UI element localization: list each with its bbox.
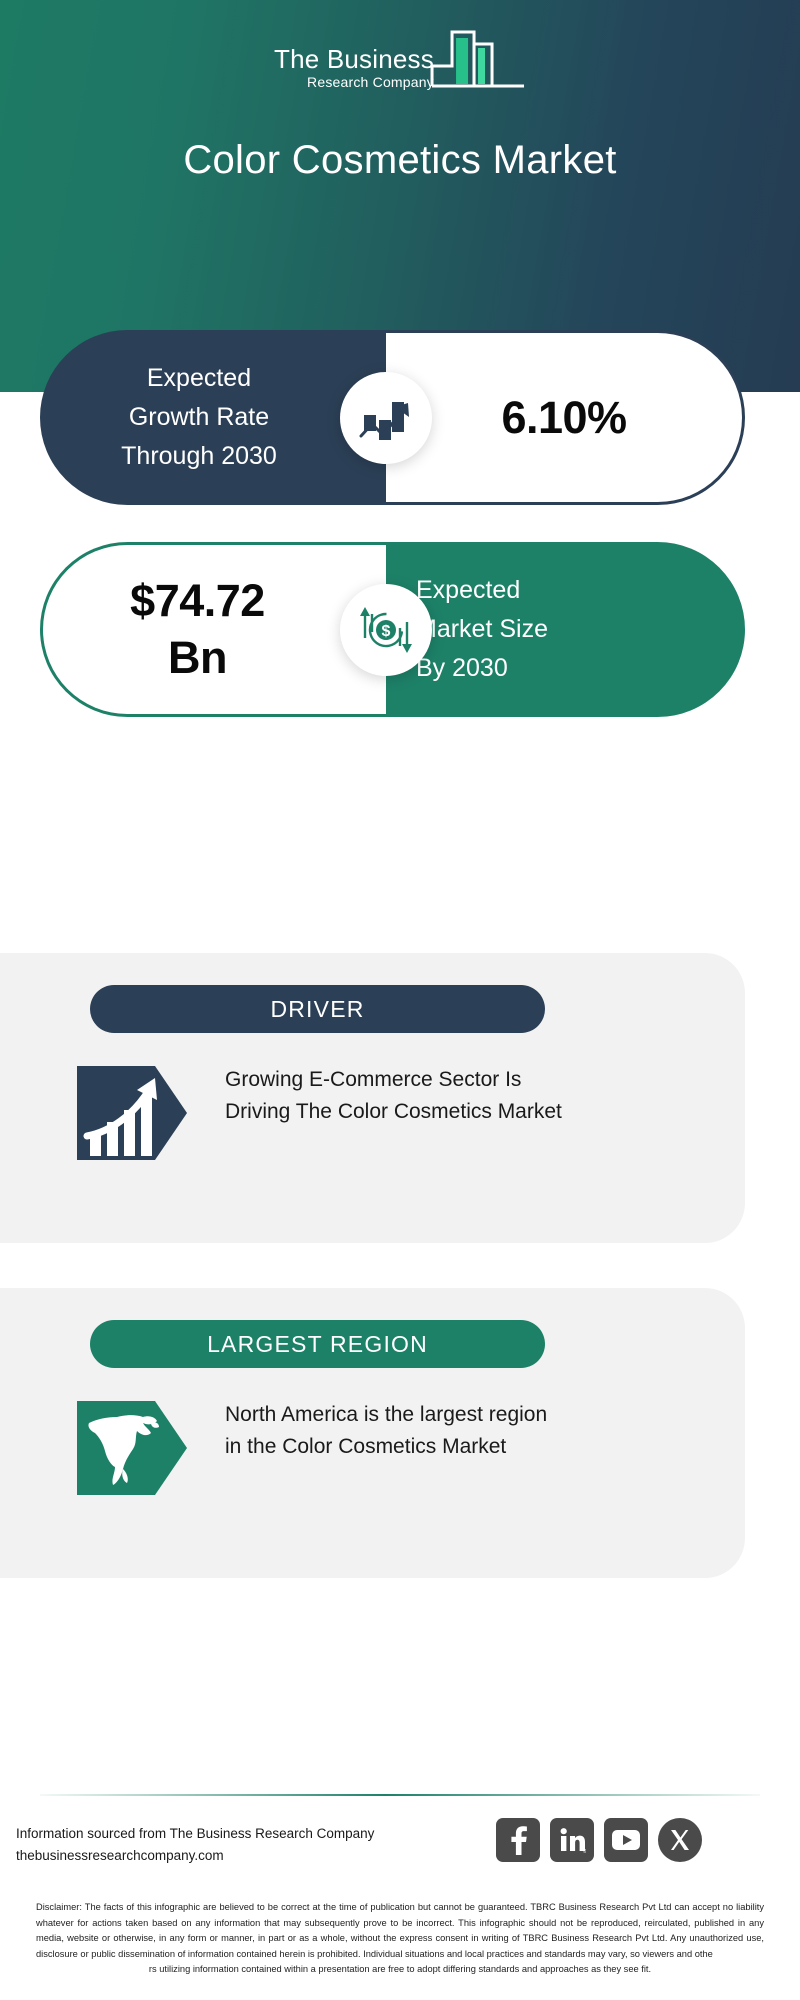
x-twitter-icon[interactable]: [658, 1818, 702, 1862]
north-america-map-pentagon-icon: [77, 1393, 187, 1503]
disclaimer-tail: rs utilizing information contained withi…: [36, 1962, 764, 1978]
youtube-icon[interactable]: [604, 1818, 648, 1862]
footer-source: Information sourced from The Business Re…: [16, 1823, 374, 1868]
svg-text:$: $: [382, 623, 391, 640]
largest-region-section: LARGEST REGION North America is the larg…: [0, 1288, 745, 1578]
largest-region-body: North America is the largest region in t…: [77, 1393, 565, 1503]
largest-region-text: North America is the largest region in t…: [225, 1393, 565, 1463]
dollar-cycle-icon: $: [340, 584, 432, 676]
logo-line-1: The Business: [274, 46, 434, 73]
footer-divider: [40, 1794, 760, 1796]
disclaimer-text: Disclaimer: The facts of this infographi…: [36, 1900, 764, 1978]
bar-chart-logo-icon: [430, 22, 526, 97]
growth-rate-value: 6.10%: [501, 392, 626, 444]
svg-text:®: ®: [583, 1848, 586, 1854]
driver-body: Growing E-Commerce Sector Is Driving The…: [77, 1058, 565, 1168]
growth-rate-label-panel: Expected Growth Rate Through 2030: [40, 330, 386, 505]
footer-source-line-1: Information sourced from The Business Re…: [16, 1823, 374, 1845]
largest-region-pill: LARGEST REGION: [90, 1320, 545, 1368]
bar-growth-pentagon-icon: [77, 1058, 187, 1168]
driver-pill: DRIVER: [90, 985, 545, 1033]
footer-website-link[interactable]: thebusinessresearchcompany.com: [16, 1845, 374, 1867]
social-links: ®: [496, 1818, 702, 1862]
driver-text: Growing E-Commerce Sector Is Driving The…: [225, 1058, 565, 1128]
market-size-label-panel: Expected Market Size By 2030: [386, 542, 745, 717]
page-title: Color Cosmetics Market: [0, 138, 800, 183]
growth-chart-arrow-icon: [340, 372, 432, 464]
logo-wordmark: The Business Research Company: [274, 46, 434, 98]
growth-rate-label: Expected Growth Rate Through 2030: [121, 359, 305, 475]
driver-section: DRIVER Growing E-Commerce Sector Is Driv…: [0, 953, 745, 1243]
growth-rate-value-panel: 6.10%: [386, 330, 745, 505]
facebook-icon[interactable]: [496, 1818, 540, 1862]
company-logo: The Business Research Company: [274, 22, 526, 98]
disclaimer-main: Disclaimer: The facts of this infographi…: [36, 1902, 764, 1959]
market-size-label: Expected Market Size By 2030: [386, 571, 745, 687]
linkedin-icon[interactable]: ®: [550, 1818, 594, 1862]
market-size-value-panel: $74.72 Bn: [40, 542, 386, 717]
stat-card-market-size: $74.72 Bn Expected Market Size By 2030 $: [40, 542, 745, 717]
logo-line-2: Research Company: [274, 73, 434, 92]
stat-card-growth-rate: Expected Growth Rate Through 2030 6.10%: [40, 330, 745, 505]
market-size-value: $74.72 Bn: [130, 573, 299, 686]
